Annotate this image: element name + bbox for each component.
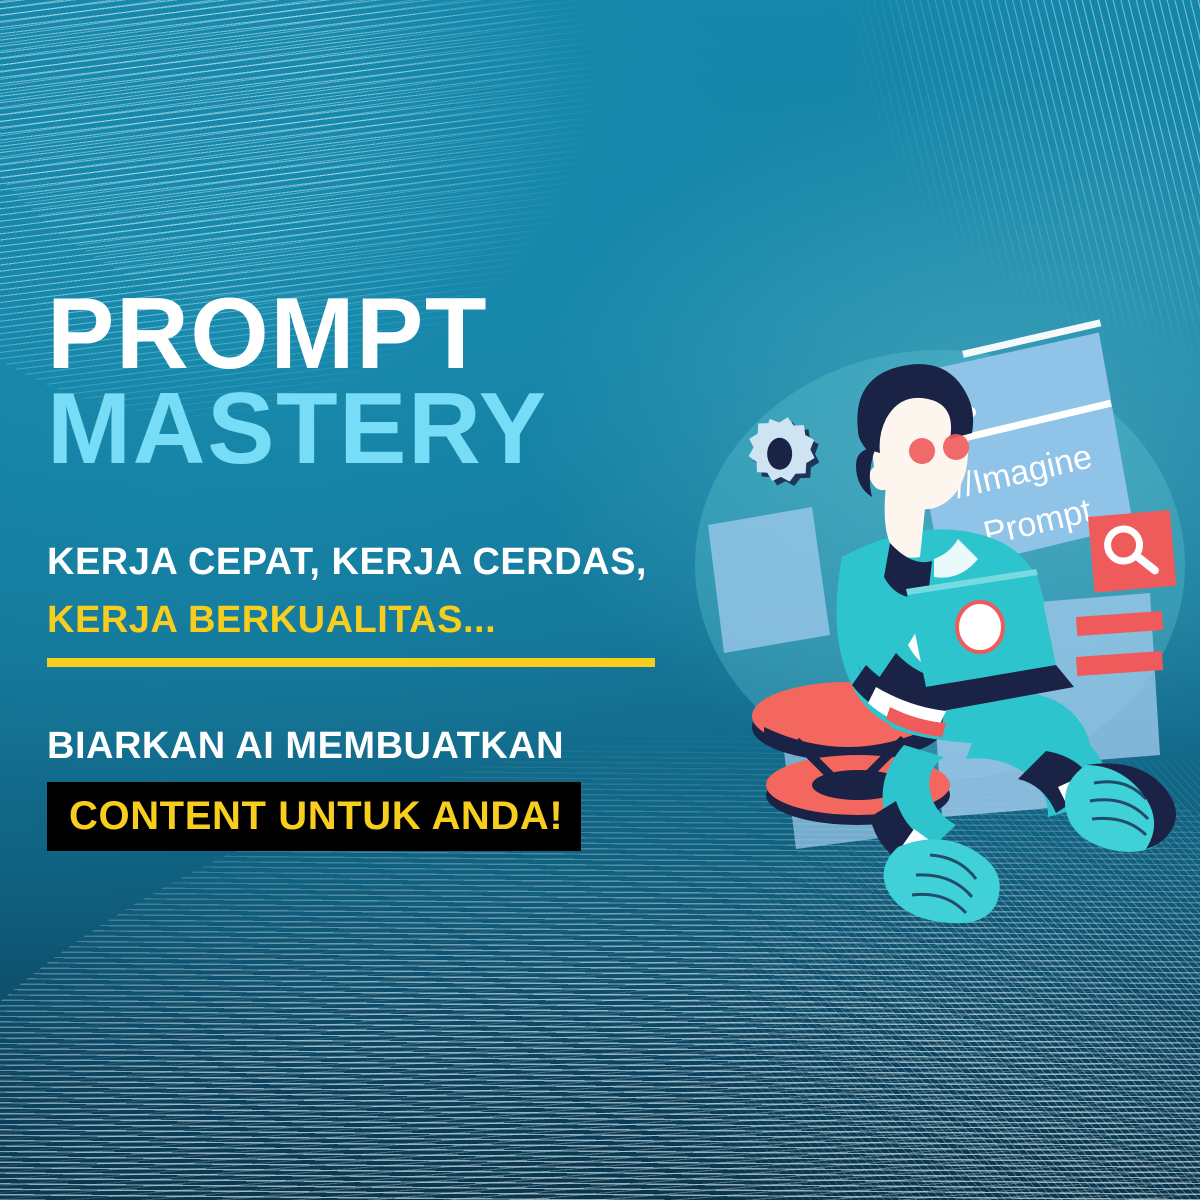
- shoe-back-icon: [884, 839, 1000, 923]
- headline-line2: MASTERY: [47, 382, 807, 478]
- poster-canvas: //Imagine Prompt: [0, 0, 1200, 1200]
- headline-line1: PROMPT: [47, 288, 807, 382]
- shoe-front-icon: [1065, 763, 1176, 852]
- subheadline-line2: KERJA BERKUALITAS...: [47, 598, 807, 643]
- text-block: PROMPT MASTERY KERJA CEPAT, KERJA CERDAS…: [47, 288, 807, 851]
- subheadline-line1: KERJA CEPAT, KERJA CERDAS,: [47, 540, 807, 585]
- callout-line1: BIARKAN AI MEMBUATKAN: [47, 724, 807, 769]
- callout-line2: CONTENT UNTUK ANDA!: [69, 796, 563, 836]
- search-icon: [1088, 510, 1176, 593]
- yellow-underline: [47, 658, 655, 667]
- callout-highlight-bar: CONTENT UNTUK ANDA!: [47, 782, 581, 851]
